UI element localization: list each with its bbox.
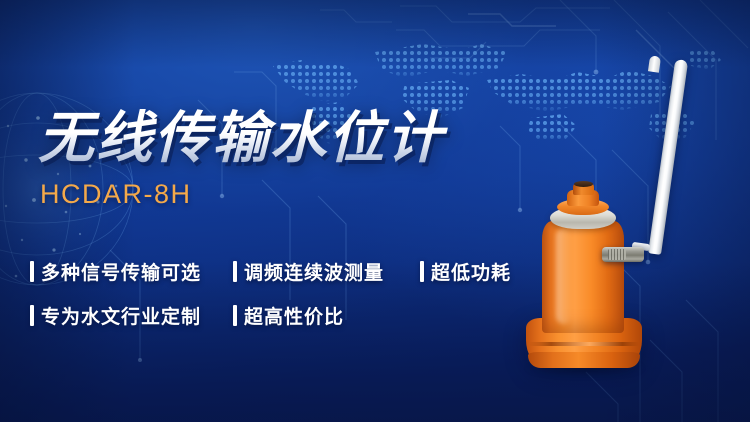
product-title: 无线传输水位计 <box>38 108 558 167</box>
feature-item: 多种信号传输可选 <box>30 258 201 285</box>
bullet-bar-icon <box>30 305 34 326</box>
feature-row: 多种信号传输可选 调频连续波测量 超低功耗 <box>30 252 590 290</box>
feature-item: 专为水文行业定制 <box>30 302 201 329</box>
antenna-tip <box>648 55 661 72</box>
product-base-bottom <box>528 352 640 368</box>
product-model: HCDAR-8H <box>40 179 558 210</box>
bullet-bar-icon <box>233 305 237 326</box>
feature-item: 超低功耗 <box>420 258 511 285</box>
headline-block: 无线传输水位计 HCDAR-8H <box>38 108 558 210</box>
feature-item: 调频连续波测量 <box>233 258 384 285</box>
feature-label: 超低功耗 <box>431 258 511 285</box>
feature-label: 专为水文行业定制 <box>41 302 201 329</box>
feature-row: 专为水文行业定制 超高性价比 <box>30 296 590 334</box>
feature-item: 超高性价比 <box>233 302 344 329</box>
antenna <box>648 59 688 255</box>
feature-label: 多种信号传输可选 <box>41 258 201 285</box>
bullet-bar-icon <box>233 261 237 282</box>
feature-list: 多种信号传输可选 调频连续波测量 超低功耗 专为水文行业定制 超高性价比 <box>30 252 590 334</box>
bullet-bar-icon <box>420 261 424 282</box>
product-base-seam <box>529 342 639 346</box>
antenna-connector-knurl <box>608 249 626 260</box>
bullet-bar-icon <box>30 261 34 282</box>
product-image <box>520 0 750 422</box>
feature-label: 调频连续波测量 <box>244 258 384 285</box>
product-banner: 无线传输水位计 HCDAR-8H 多种信号传输可选 调频连续波测量 超低功耗 专… <box>0 0 750 422</box>
feature-label: 超高性价比 <box>244 302 344 329</box>
product-cap-top <box>574 181 593 187</box>
